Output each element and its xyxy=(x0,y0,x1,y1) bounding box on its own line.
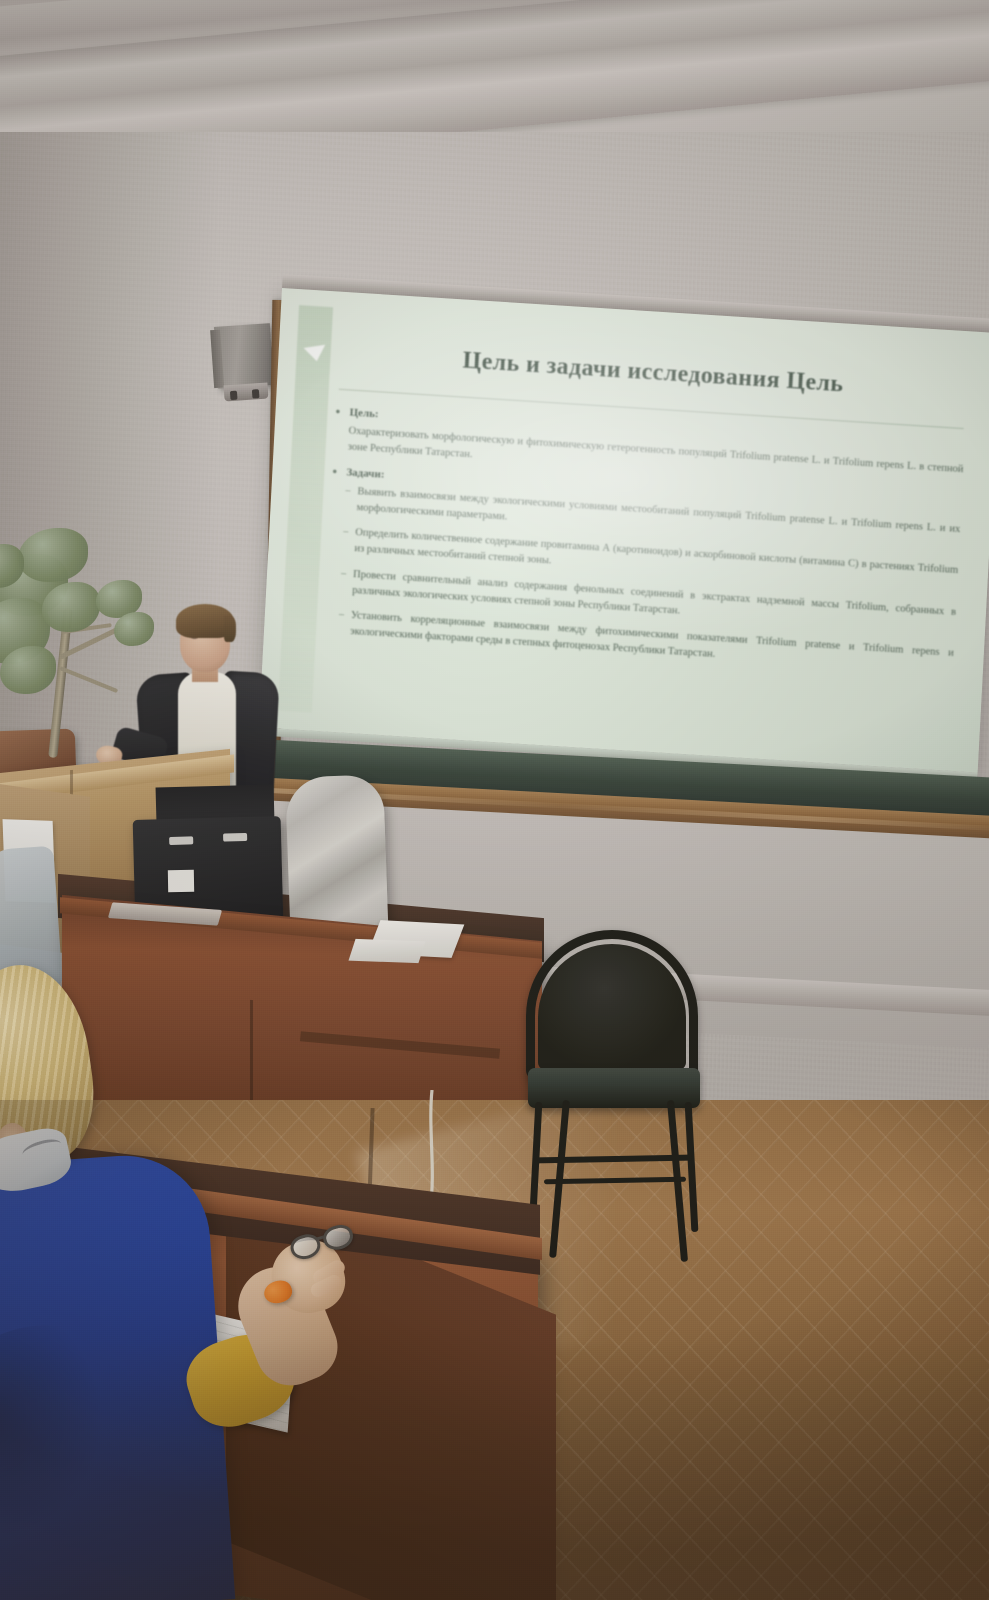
slide-title: Цель и задачи исследования Цель xyxy=(334,339,972,406)
plant-foliage xyxy=(42,582,100,632)
wall-speaker-icon xyxy=(214,323,274,389)
plant-foliage xyxy=(0,646,56,694)
presentation-slide: Цель и задачи исследования Цель Цель: Ох… xyxy=(259,288,989,773)
floor-vignette xyxy=(0,1100,989,1600)
projection-screen: Цель и задачи исследования Цель Цель: Ох… xyxy=(257,288,989,803)
slide-body: Цель: Охарактеризовать морфологическую и… xyxy=(320,405,969,678)
screen-surface: Цель и задачи исследования Цель Цель: Ох… xyxy=(259,288,989,773)
desk-paper-stack xyxy=(348,939,425,963)
plant-branch xyxy=(59,666,118,693)
monitor-asset-sticker xyxy=(168,870,194,892)
lecture-hall-photograph: Цель и задачи исследования Цель Цель: Ох… xyxy=(0,0,989,1600)
speaker-bracket xyxy=(223,382,268,401)
leaf-marker-icon xyxy=(304,345,328,363)
plant-foliage xyxy=(18,528,88,582)
presenter-hair xyxy=(176,604,234,638)
